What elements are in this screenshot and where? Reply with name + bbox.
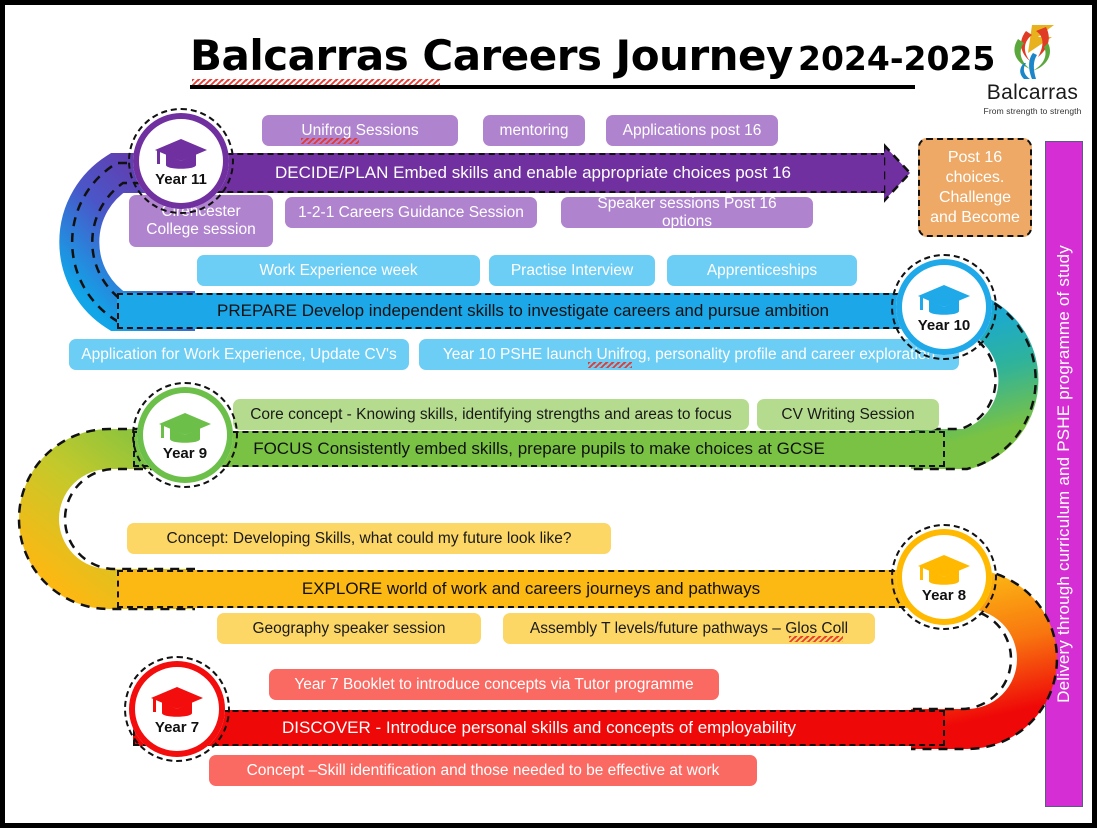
activity-pill[interactable]: Apprenticeships <box>667 255 857 286</box>
activity-pill[interactable]: CV Writing Session <box>757 399 939 430</box>
activity-pill[interactable]: mentoring <box>483 115 585 146</box>
logo-wordmark: Balcarras <box>980 82 1085 103</box>
phase-bar-year11: DECIDE/PLAN Embed skills and enable appr… <box>177 153 887 193</box>
flame-torch-icon <box>1002 23 1064 81</box>
delivery-banner-label: Delivery through curriculum and PSHE pro… <box>1054 245 1074 703</box>
year-badge-label: Year 7 <box>155 719 199 736</box>
activity-pill[interactable]: Year 7 Booklet to introduce concepts via… <box>269 669 719 700</box>
page-title: Balcarras Careers Journey 2024-2025 <box>190 35 920 77</box>
logo-tagline: From strength to strength <box>980 106 1085 116</box>
balcarras-logo: Balcarras From strength to strength <box>980 23 1085 123</box>
graduation-cap-icon <box>917 283 971 319</box>
phase-bar-year8: EXPLORE world of work and careers journe… <box>117 570 945 608</box>
activity-pill[interactable]: Application for Work Experience, Update … <box>69 339 409 370</box>
phase-bar-year9: FOCUS Consistently embed skills, prepare… <box>133 431 945 467</box>
year-badge-label: Year 10 <box>918 317 971 334</box>
title-underline <box>190 85 915 89</box>
spellcheck-squiggle-icon <box>301 138 359 144</box>
phase-bar-year10: PREPARE Develop independent skills to in… <box>117 293 929 329</box>
activity-pill[interactable]: Speaker sessions Post 16 options <box>561 197 813 228</box>
year-badge-label: Year 9 <box>163 445 207 462</box>
phase-bar-year7: DISCOVER - Introduce personal skills and… <box>133 710 945 746</box>
graduation-cap-icon <box>154 137 208 173</box>
activity-pill[interactable]: Year 10 PSHE launch Unifrog, personality… <box>419 339 959 370</box>
activity-pill[interactable]: Concept: Developing Skills, what could m… <box>127 523 611 554</box>
activity-pill[interactable]: Geography speaker session <box>217 613 481 644</box>
title-years: 2024-2025 <box>798 39 995 78</box>
spellcheck-squiggle-icon <box>588 362 632 368</box>
activity-pill[interactable]: Unifrog Sessions <box>262 115 458 146</box>
year-badge-year8: Year 8 <box>896 529 992 625</box>
year-badge-label: Year 8 <box>922 587 966 604</box>
year-badge-year11: Year 11 <box>133 113 229 209</box>
title-main: Balcarras Careers Journey <box>190 31 793 80</box>
delivery-banner: Delivery through curriculum and PSHE pro… <box>1045 141 1083 807</box>
graduation-cap-icon <box>150 685 204 721</box>
graduation-cap-icon <box>158 411 212 447</box>
activity-pill[interactable]: Work Experience week <box>197 255 480 286</box>
post16-outcome-box: Post 16 choices. Challenge and Become <box>918 138 1032 237</box>
year-badge-year10: Year 10 <box>896 259 992 355</box>
year-badge-year7: Year 7 <box>129 661 225 757</box>
activity-pill[interactable]: Applications post 16 <box>606 115 778 146</box>
year-badge-label: Year 11 <box>155 171 207 188</box>
year-badge-year9: Year 9 <box>137 387 233 483</box>
activity-pill[interactable]: 1-2-1 Careers Guidance Session <box>285 197 537 228</box>
activity-pill[interactable]: Core concept - Knowing skills, identifyi… <box>233 399 749 430</box>
graduation-cap-icon <box>917 553 971 589</box>
careers-journey-poster: Balcarras Careers Journey 2024-2025 Balc… <box>0 0 1097 828</box>
spellcheck-squiggle-icon <box>789 636 843 642</box>
spellcheck-squiggle-icon <box>192 79 440 85</box>
activity-pill[interactable]: Concept –Skill identification and those … <box>209 755 757 786</box>
activity-pill[interactable]: Practise Interview <box>489 255 655 286</box>
